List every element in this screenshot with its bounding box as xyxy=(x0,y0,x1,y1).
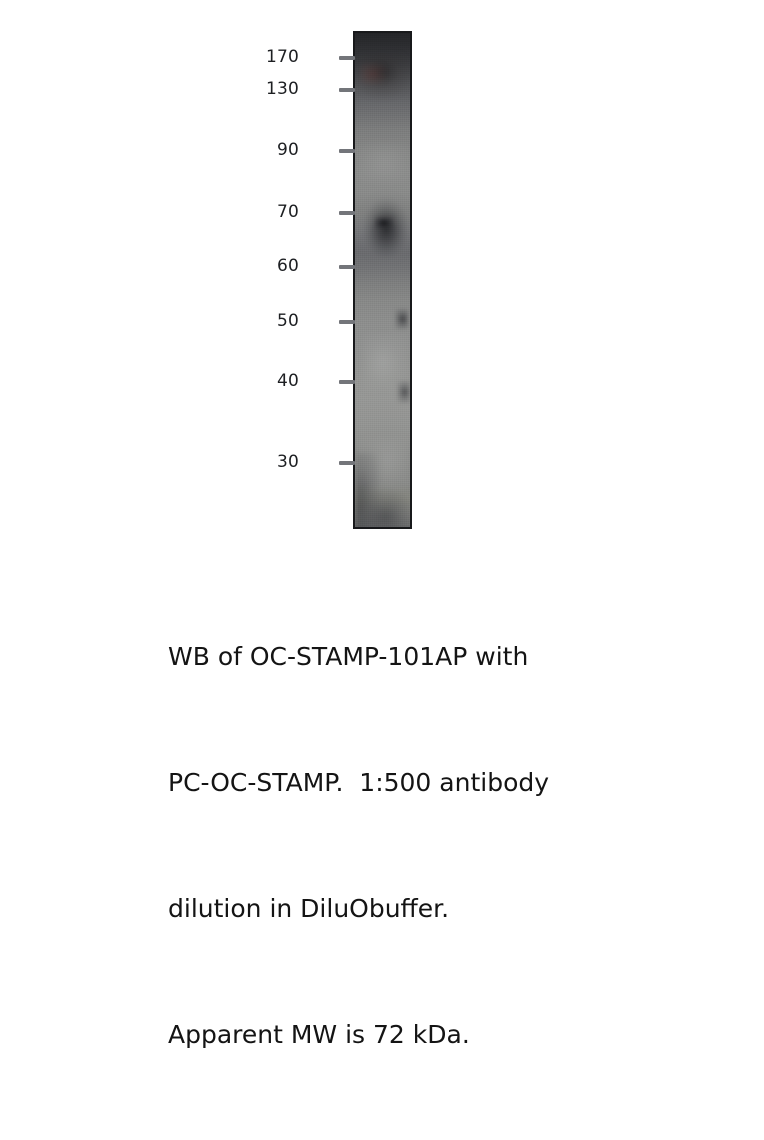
marker-tick-70 xyxy=(339,211,355,215)
marker-label-70: 70 xyxy=(277,202,299,222)
molecular-weight-marker-ladder: 170 130 90 70 60 50 40 30 xyxy=(0,0,360,560)
marker-tick-90 xyxy=(339,149,355,153)
marker-label-40: 40 xyxy=(277,371,299,391)
caption-line-4: Apparent MW is 72 kDa. xyxy=(168,1014,638,1056)
marker-label-130: 130 xyxy=(266,79,299,99)
caption-line-3: dilution in DiluObuffer. xyxy=(168,888,638,930)
blot-lane-image xyxy=(353,31,412,529)
caption-line-2: PC-OC-STAMP. 1:500 antibody xyxy=(168,762,638,804)
film-grain-overlay xyxy=(353,31,412,529)
marker-tick-40 xyxy=(339,380,355,384)
marker-tick-130 xyxy=(339,88,355,92)
marker-tick-60 xyxy=(339,265,355,269)
marker-label-170: 170 xyxy=(266,47,299,67)
marker-tick-50 xyxy=(339,320,355,324)
marker-tick-170 xyxy=(339,56,355,60)
figure-caption: WB of OC-STAMP-101AP with PC-OC-STAMP. 1… xyxy=(168,552,638,1140)
caption-line-1: WB of OC-STAMP-101AP with xyxy=(168,636,638,678)
marker-label-90: 90 xyxy=(277,140,299,160)
marker-label-60: 60 xyxy=(277,256,299,276)
marker-tick-30 xyxy=(339,461,355,465)
marker-label-50: 50 xyxy=(277,311,299,331)
western-blot-figure: 170 130 90 70 60 50 40 30 xyxy=(0,0,764,764)
marker-label-30: 30 xyxy=(277,452,299,472)
